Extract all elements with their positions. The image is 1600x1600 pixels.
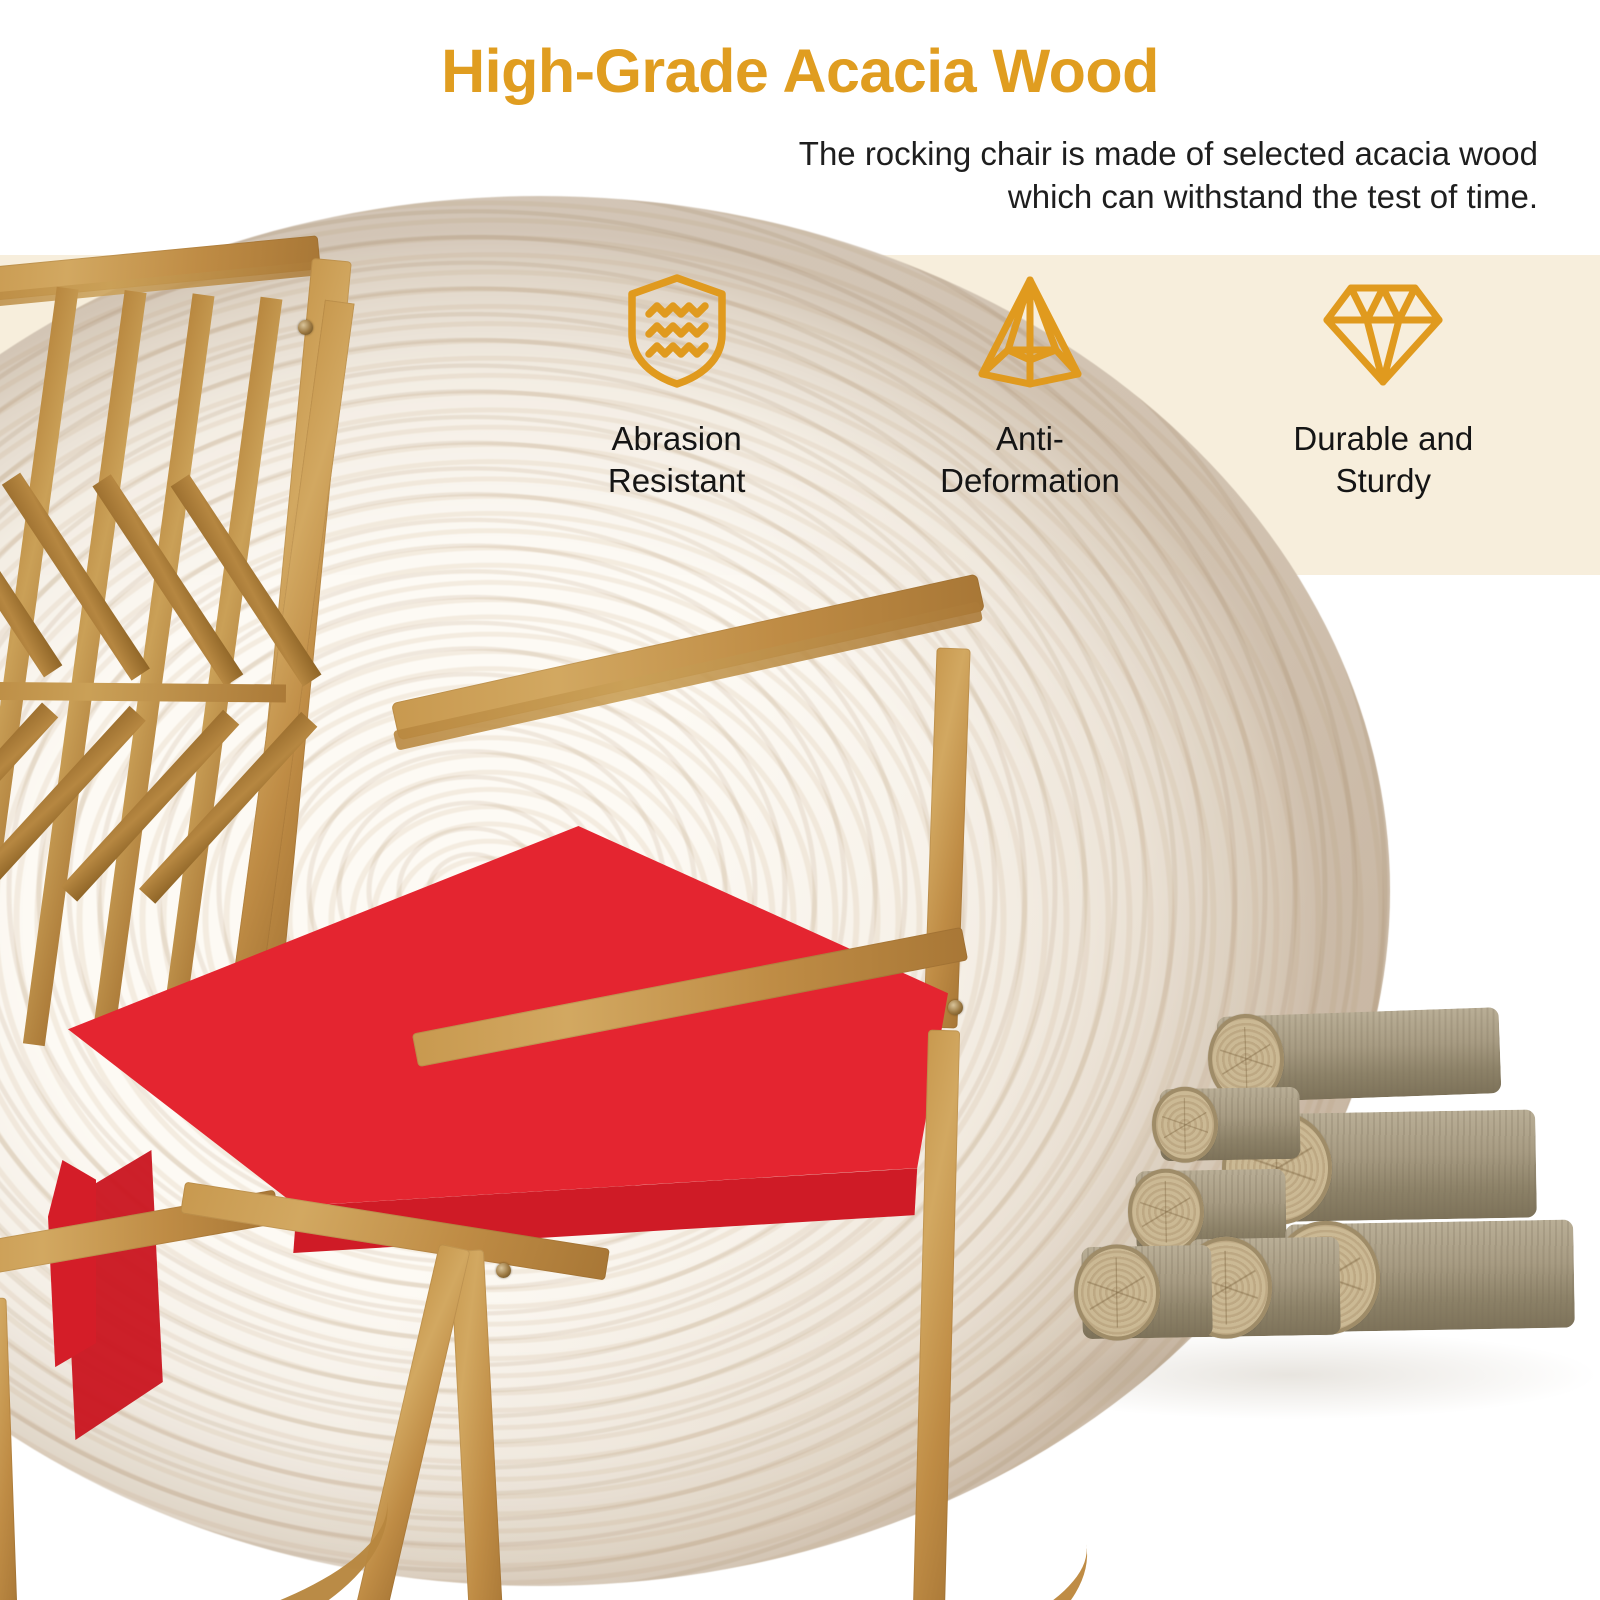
log-item [1159,1087,1300,1161]
stacked-logs-prop [1040,990,1570,1370]
subtitle-line-1: The rocking chair is made of selected ac… [518,132,1538,175]
chair-screw-arm-post [948,1000,963,1015]
feature-item-abrasion-resistant: Abrasion Resistant [500,272,853,562]
chair-armrest-face [393,601,983,750]
shield-waves-icon [625,272,729,390]
pyramid-wireframe-icon [974,272,1086,390]
feature-item-anti-deformation: Anti- Deformation [853,272,1206,562]
back-mid-rail [0,682,286,703]
lattice-diagonal [139,712,317,904]
feature-list: Abrasion Resistant Anti- Deformation [500,272,1560,562]
feature-label: Abrasion Resistant [608,418,746,502]
diamond-gem-icon [1321,272,1445,390]
subtitle-line-2: which can withstand the test of time. [518,175,1538,218]
log-item [1081,1245,1213,1339]
feature-label: Durable and Sturdy [1293,418,1473,502]
chair-rocker-runner-right [573,1426,1107,1600]
page-title: High-Grade Acacia Wood [0,36,1600,106]
chair-screw-seat-joint [496,1263,511,1278]
chair-rocker-runner-left [0,1371,407,1600]
page-subtitle: The rocking chair is made of selected ac… [518,132,1538,218]
feature-item-durable-sturdy: Durable and Sturdy [1207,272,1560,562]
feature-label: Anti- Deformation [940,418,1120,502]
chair-arm-front-post [923,648,970,1029]
product-feature-banner: High-Grade Acacia Wood The rocking chair… [0,0,1600,1600]
